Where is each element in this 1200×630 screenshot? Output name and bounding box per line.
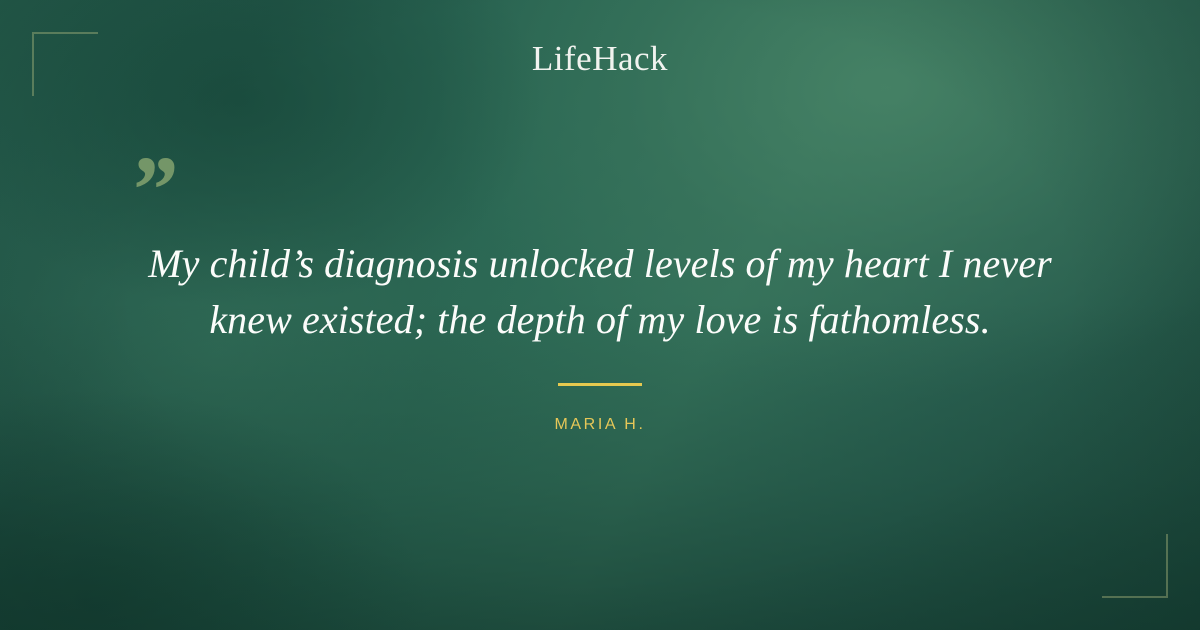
corner-bracket-bottom-right-icon (1102, 534, 1168, 598)
accent-divider (558, 383, 642, 386)
quote-card: LifeHack ” My child’s diagnosis unlocked… (0, 0, 1200, 630)
quote-text: My child’s diagnosis unlocked levels of … (0, 236, 1200, 348)
quotation-mark-icon: ” (128, 142, 176, 238)
quote-line: My child’s diagnosis unlocked levels of … (0, 236, 1200, 292)
quote-line: knew existed; the depth of my love is fa… (0, 292, 1200, 348)
brand-logo: LifeHack (0, 40, 1200, 79)
quote-attribution: MARIA H. (0, 416, 1200, 434)
